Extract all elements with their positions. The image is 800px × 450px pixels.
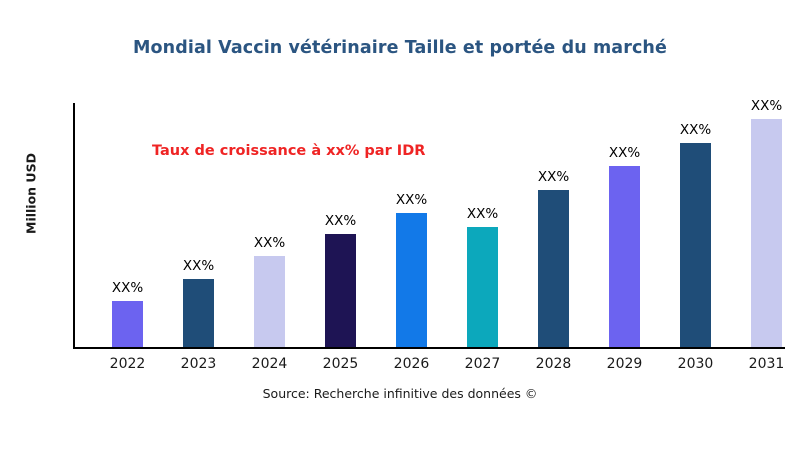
x-tick-2026: 2026 [372, 356, 452, 372]
bar-2028[interactable] [538, 190, 569, 347]
bar-2024[interactable] [254, 256, 285, 347]
bar-2027[interactable] [467, 227, 498, 347]
x-tick-2031: 2031 [727, 356, 800, 372]
x-tick-2022: 2022 [88, 356, 168, 372]
bar-2025[interactable] [325, 234, 356, 347]
bar-group: XX% [112, 301, 143, 347]
x-tick-2028: 2028 [514, 356, 594, 372]
x-tick-2029: 2029 [585, 356, 665, 372]
bar-value-label: XX% [112, 280, 143, 296]
chart-title: Mondial Vaccin vétérinaire Taille et por… [0, 38, 800, 58]
bar-2031[interactable] [751, 119, 782, 347]
bar-group: XX% [609, 166, 640, 347]
bar-2029[interactable] [609, 166, 640, 347]
x-axis-line [73, 347, 785, 349]
bar-group: XX% [467, 227, 498, 347]
bar-2023[interactable] [183, 279, 214, 347]
x-tick-2030: 2030 [656, 356, 736, 372]
bar-group: XX% [680, 143, 711, 347]
growth-rate-annotation: Taux de croissance à xx% par IDR [152, 143, 425, 159]
x-tick-2023: 2023 [159, 356, 239, 372]
bar-group: XX% [325, 234, 356, 347]
x-tick-2025: 2025 [301, 356, 381, 372]
y-axis-line [73, 103, 75, 349]
bar-value-label: XX% [751, 98, 782, 114]
y-axis-label: Million USD [24, 134, 39, 254]
bar-value-label: XX% [254, 235, 285, 251]
bar-group: XX% [183, 279, 214, 347]
plot-area: XX%XX%XX%XX%XX%XX%XX%XX%XX%XX% [73, 103, 785, 349]
bar-2030[interactable] [680, 143, 711, 347]
x-tick-2024: 2024 [230, 356, 310, 372]
bar-group: XX% [751, 119, 782, 347]
bar-value-label: XX% [183, 258, 214, 274]
x-tick-2027: 2027 [443, 356, 523, 372]
bar-2026[interactable] [396, 213, 427, 347]
bar-value-label: XX% [609, 145, 640, 161]
bar-group: XX% [538, 190, 569, 347]
chart-container: Mondial Vaccin vétérinaire Taille et por… [0, 0, 800, 450]
bar-value-label: XX% [538, 169, 569, 185]
bar-value-label: XX% [680, 122, 711, 138]
bar-value-label: XX% [325, 213, 356, 229]
source-note: Source: Recherche infinitive des données… [0, 386, 800, 401]
bar-value-label: XX% [467, 206, 498, 222]
bar-group: XX% [254, 256, 285, 347]
bar-value-label: XX% [396, 192, 427, 208]
bar-2022[interactable] [112, 301, 143, 347]
bar-group: XX% [396, 213, 427, 347]
